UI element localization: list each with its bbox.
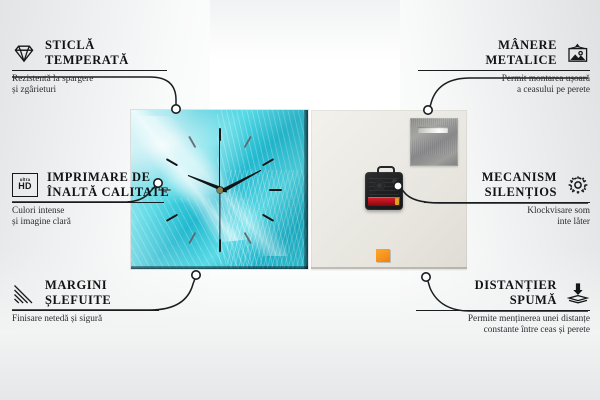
callout-rule: [12, 202, 164, 203]
callout-description: Klockvisare som inte låter: [420, 206, 590, 228]
callout-description: Permit montarea ușoară a ceasului pe per…: [414, 74, 590, 96]
press-down-layers-icon: [566, 282, 590, 304]
callout-mecanism-silentios: MECANISM SILENȚIOS Klockvisare som inte …: [420, 170, 590, 228]
callout-description: Finisare netedă și sigură: [12, 314, 174, 325]
leader-endpoint-manere: [424, 106, 432, 114]
diamond-icon: [12, 42, 36, 64]
callout-title: STICLĂ TEMPERATĂ: [45, 38, 129, 67]
callout-header: MÂNERE METALICE: [414, 38, 590, 67]
callout-title: MARGINI ȘLEFUITE: [45, 278, 111, 307]
callout-header: MARGINI ȘLEFUITE: [12, 278, 174, 307]
leader-endpoint-mecanism: [394, 182, 402, 190]
leader-endpoint-sticla: [172, 105, 180, 113]
callout-rule: [424, 202, 590, 203]
callout-title: DISTANȚIER SPUMĂ: [475, 278, 557, 307]
callout-rule: [418, 70, 590, 71]
callout-header: MECANISM SILENȚIOS: [420, 170, 590, 199]
callout-manere-metalice: MÂNERE METALICE Permit montarea ușoară a…: [414, 38, 590, 96]
gear-icon: [566, 174, 590, 196]
leader-endpoint-margini: [192, 271, 200, 279]
callout-header: ultra HD IMPRIMARE DE ÎNALTĂ CALITATE: [12, 170, 180, 199]
callout-margini-slefuite: MARGINI ȘLEFUITE Finisare netedă și sigu…: [12, 278, 174, 325]
callout-rule: [12, 70, 167, 71]
callout-title: IMPRIMARE DE ÎNALTĂ CALITATE: [47, 170, 169, 199]
badge-main-text: HD: [18, 182, 31, 191]
callout-rule: [416, 310, 590, 311]
picture-hanger-icon: [566, 42, 590, 64]
callout-title: MÂNERE METALICE: [485, 38, 557, 67]
callout-imprimare-inalta-calitate: ultra HD IMPRIMARE DE ÎNALTĂ CALITATE Cu…: [12, 170, 180, 228]
callout-distantier-spuma: DISTANȚIER SPUMĂ Permite menținerea unei…: [412, 278, 590, 336]
infographic-canvas: STICLĂ TEMPERATĂ Rezistentă la spargere …: [0, 0, 600, 400]
callout-description: Rezistentă la spargere și zgârieturi: [12, 74, 172, 96]
callout-description: Culori intense și imagine clară: [12, 206, 180, 228]
callout-sticla-temperata: STICLĂ TEMPERATĂ Rezistentă la spargere …: [12, 38, 172, 96]
callout-title: MECANISM SILENȚIOS: [482, 170, 557, 199]
polished-edge-icon: [12, 282, 36, 304]
callout-rule: [12, 310, 159, 311]
callout-header: STICLĂ TEMPERATĂ: [12, 38, 172, 67]
callout-header: DISTANȚIER SPUMĂ: [412, 278, 590, 307]
ultra-hd-badge-icon: ultra HD: [12, 173, 38, 197]
callout-description: Permite menținerea unei distanțe constan…: [412, 314, 590, 336]
